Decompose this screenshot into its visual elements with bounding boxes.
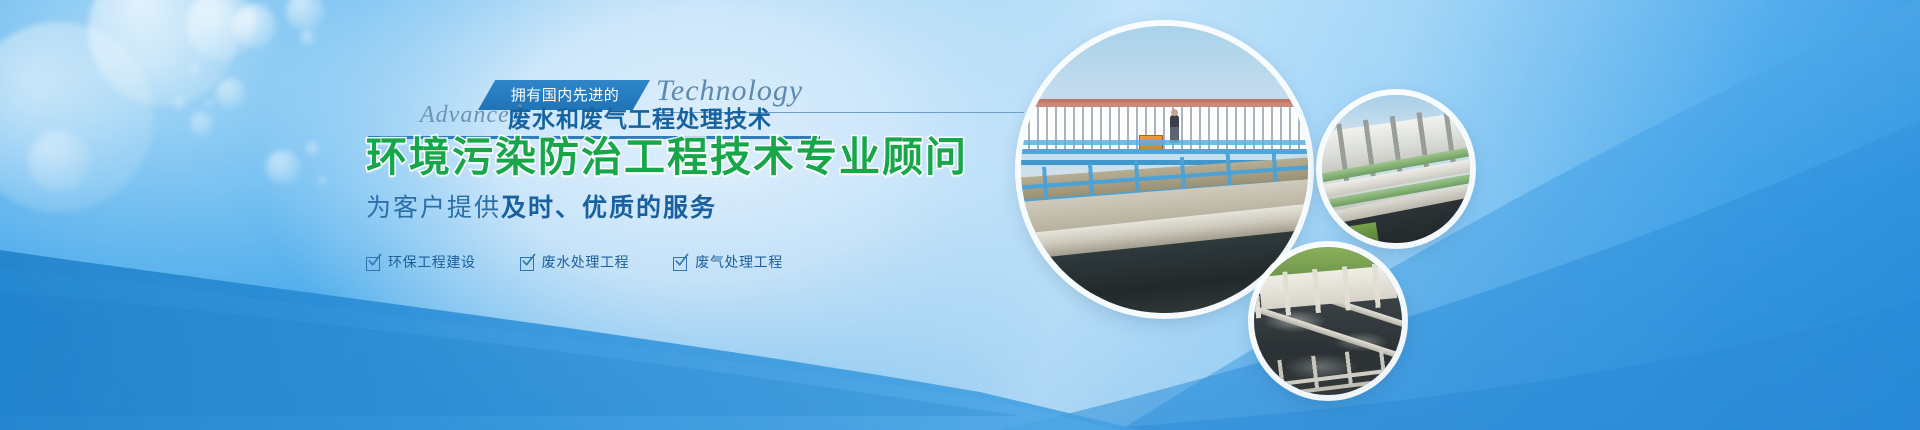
feature-label: 废气处理工程 [695, 252, 783, 272]
subtitle-row: Advanced 废水和废气工程处理技术 [360, 96, 920, 136]
feature-item[interactable]: 环保工程建设 [366, 252, 476, 272]
page-title: 环境污染防治工程技术专业顾问 [366, 134, 968, 181]
green-pipe-channels-photo [1322, 95, 1470, 243]
feature-item[interactable]: 废气处理工程 [673, 252, 783, 272]
slogan-emphasis: 及时、优质的服务 [501, 194, 717, 222]
feature-list: 环保工程建设 废水处理工程 废气处理工程 [366, 252, 783, 272]
subtitle-text: 废水和废气工程处理技术 [508, 100, 772, 134]
slogan-prefix: 为客户提供 [366, 194, 501, 222]
sludge-basin-photo [1254, 247, 1402, 395]
check-icon [366, 255, 381, 270]
banner-text-content: 拥有国内先进的 Technology Advanced 废水和废气工程处理技术 … [0, 0, 1020, 430]
slogan-text: 为客户提供及时、优质的服务 [366, 188, 717, 224]
promo-banner: 拥有国内先进的 Technology Advanced 废水和废气工程处理技术 … [0, 0, 1920, 430]
feature-label: 环保工程建设 [388, 252, 476, 272]
feature-label: 废水处理工程 [542, 252, 630, 272]
check-icon [520, 255, 535, 270]
feature-item[interactable]: 废水处理工程 [520, 252, 630, 272]
check-icon [673, 255, 688, 270]
